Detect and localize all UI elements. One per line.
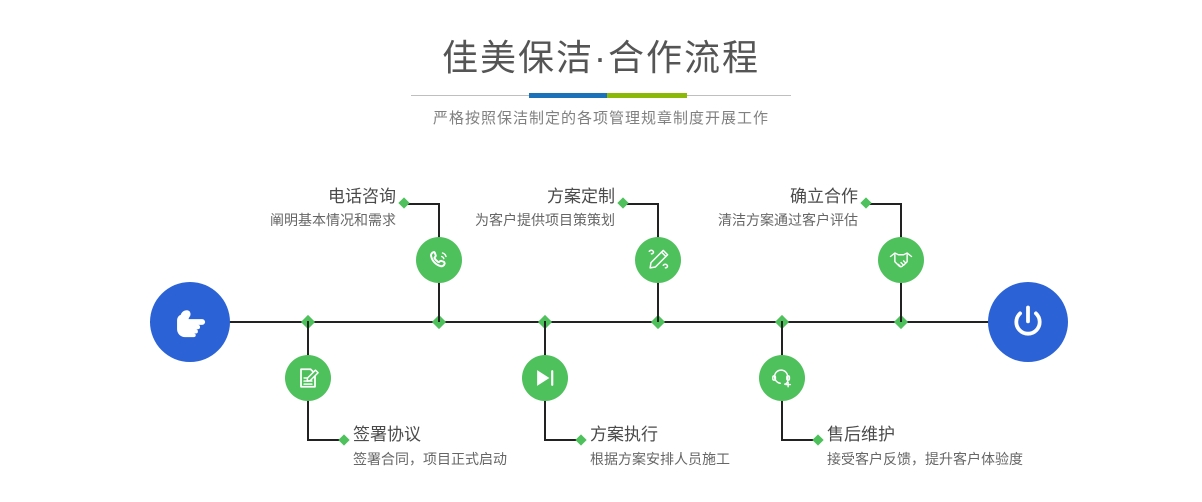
label-marker-step-6 — [812, 434, 823, 445]
step-label-2: 签署协议 签署合同，项目正式启动 — [353, 424, 507, 469]
handshake-icon — [887, 246, 915, 274]
step-node-5[interactable] — [878, 237, 924, 283]
divider-segment-blue — [529, 93, 607, 98]
label-marker-step-5 — [860, 197, 871, 208]
step-title-4: 方案执行 — [590, 424, 730, 446]
label-marker-step-2 — [338, 434, 349, 445]
timeline-end-node — [988, 282, 1068, 362]
step-desc-5: 清洁方案通过客户评估 — [596, 210, 858, 230]
connector-horizontal-step-6 — [781, 439, 816, 441]
connector-horizontal-step-2 — [307, 439, 342, 441]
process-flow-infographic: 佳美保洁·合作流程 严格按照保洁制定的各项管理规章制度开展工作 — [0, 0, 1202, 502]
timeline-start-node — [150, 282, 230, 362]
hand-pointing-icon — [167, 299, 213, 345]
connector-horizontal-step-5 — [867, 203, 902, 205]
step-title-3: 方案定制 — [353, 186, 615, 208]
step-title-6: 售后维护 — [827, 424, 1023, 446]
phone-call-icon — [425, 246, 453, 274]
customer-service-add-icon — [768, 364, 796, 392]
step-label-3: 方案定制 为客户提供项目策策划 — [353, 186, 615, 230]
header: 佳美保洁·合作流程 严格按照保洁制定的各项管理规章制度开展工作 — [0, 0, 1202, 129]
title-divider — [411, 93, 791, 99]
page-subtitle: 严格按照保洁制定的各项管理规章制度开展工作 — [0, 99, 1202, 129]
divider-segment-green — [607, 93, 687, 98]
step-label-6: 售后维护 接受客户反馈，提升客户体验度 — [827, 424, 1023, 469]
step-node-3[interactable] — [635, 237, 681, 283]
power-icon — [1006, 300, 1050, 344]
step-node-6[interactable] — [759, 355, 805, 401]
step-label-4: 方案执行 根据方案安排人员施工 — [590, 424, 730, 469]
step-title-5: 确立合作 — [596, 186, 858, 208]
play-execute-icon — [531, 364, 559, 392]
step-desc-3: 为客户提供项目策策划 — [353, 210, 615, 230]
sign-document-icon — [294, 364, 322, 392]
step-node-4[interactable] — [522, 355, 568, 401]
step-title-2: 签署协议 — [353, 424, 507, 446]
timeline-axis — [150, 321, 1052, 323]
page-title: 佳美保洁·合作流程 — [0, 0, 1202, 80]
pencil-ruler-icon — [644, 246, 672, 274]
label-marker-step-4 — [575, 434, 586, 445]
step-desc-2: 签署合同，项目正式启动 — [353, 449, 507, 469]
step-desc-4: 根据方案安排人员施工 — [590, 449, 730, 469]
step-node-2[interactable] — [285, 355, 331, 401]
step-node-1[interactable] — [416, 237, 462, 283]
connector-horizontal-step-4 — [544, 439, 579, 441]
step-desc-6: 接受客户反馈，提升客户体验度 — [827, 449, 1023, 469]
step-label-5: 确立合作 清洁方案通过客户评估 — [596, 186, 858, 230]
